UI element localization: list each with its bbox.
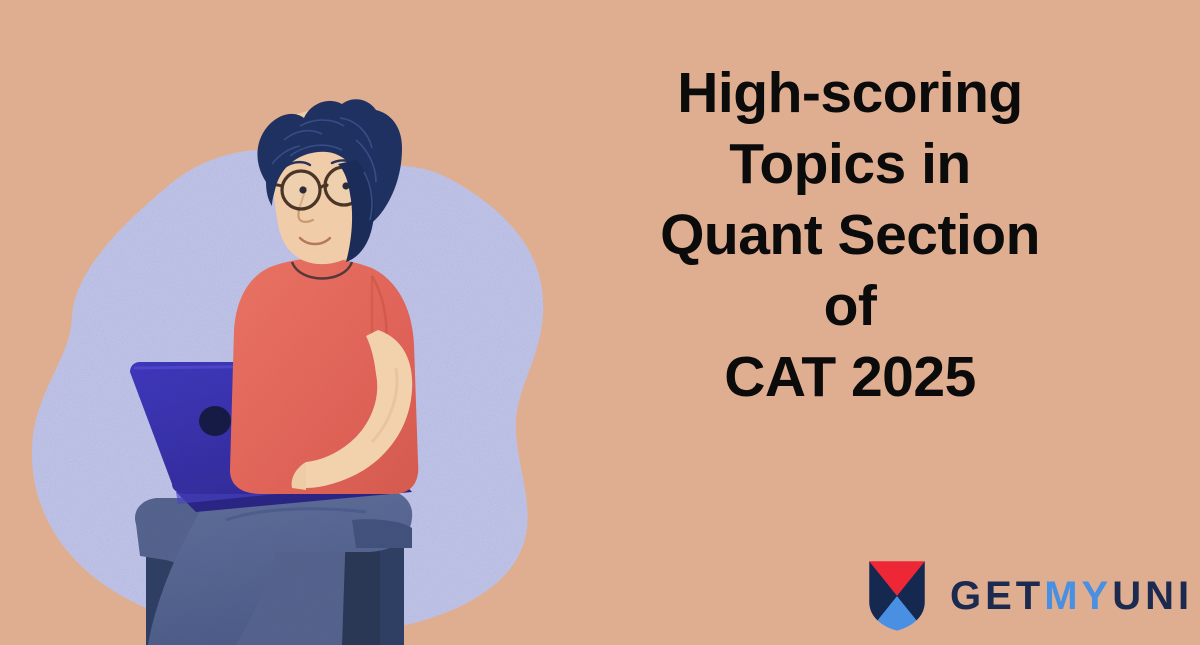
headline-line-5: CAT 2025 [600,342,1100,413]
logo-word-uni: UNI [1112,576,1193,616]
getmyuni-logo[interactable]: GET MY UNI [866,558,1193,634]
logo-word-my: MY [1044,576,1112,616]
headline-line-2: Topics in [600,129,1100,200]
logo-word-get: GET [950,576,1044,616]
banner-canvas: High-scoring Topics in Quant Section of … [0,0,1200,645]
headline-line-3: Quant Section [600,200,1100,271]
logo-wordmark: GET MY UNI [950,576,1193,616]
page-title: High-scoring Topics in Quant Section of … [600,58,1100,413]
student-with-laptop-illustration [0,0,580,645]
headline-line-1: High-scoring [600,58,1100,129]
headline-line-4: of [600,271,1100,342]
shield-icon [866,558,928,634]
